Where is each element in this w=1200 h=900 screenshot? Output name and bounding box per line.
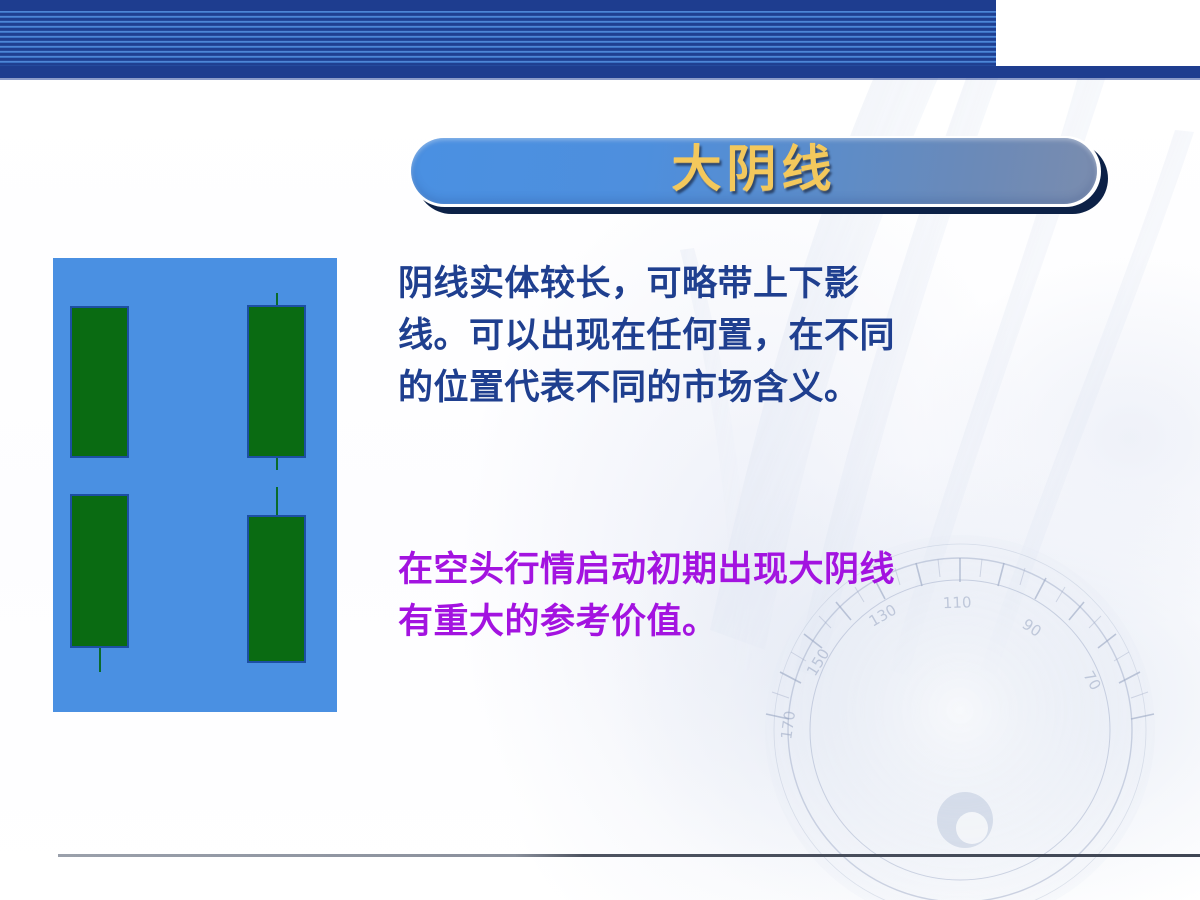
- both-shadow-bearish-candle: [247, 293, 306, 470]
- lower-shadow-bearish-candle: [70, 494, 129, 672]
- footer-divider: [58, 854, 1200, 857]
- candle-body: [70, 494, 129, 648]
- candle-body: [70, 306, 129, 458]
- header-stripe-pattern: [0, 11, 996, 66]
- upper-shadow-bearish-candle: [247, 487, 306, 663]
- upper-wick: [276, 487, 278, 517]
- description-paragraph: 阴线实体较长，可略带上下影线。可以出现在任何置，在不同的位置代表不同的市场含义。: [398, 258, 918, 414]
- lower-wick: [99, 646, 101, 672]
- lower-wick: [276, 456, 278, 470]
- header-bottom-hairline: [0, 78, 1200, 80]
- header-bottom-bar: [0, 66, 1200, 78]
- header-right-notch: [996, 0, 1200, 66]
- candlestick-illustration: [53, 258, 337, 712]
- title-banner-pill: 大阴线: [411, 138, 1097, 204]
- candle-body: [247, 305, 306, 458]
- header-top-bar: [0, 0, 996, 11]
- slide-canvas: 110 90 70 130 150 170 大阴线 阴线实体较长，可略带上下影线…: [0, 0, 1200, 900]
- svg-text:110: 110: [943, 593, 972, 612]
- note-paragraph: 在空头行情启动初期出现大阴线有重大的参考价值。: [398, 544, 918, 648]
- page-title: 大阴线: [672, 144, 837, 198]
- slide-title-banner: 大阴线: [405, 133, 1112, 215]
- bare-bearish-candle: [70, 306, 129, 458]
- candle-body: [247, 515, 306, 663]
